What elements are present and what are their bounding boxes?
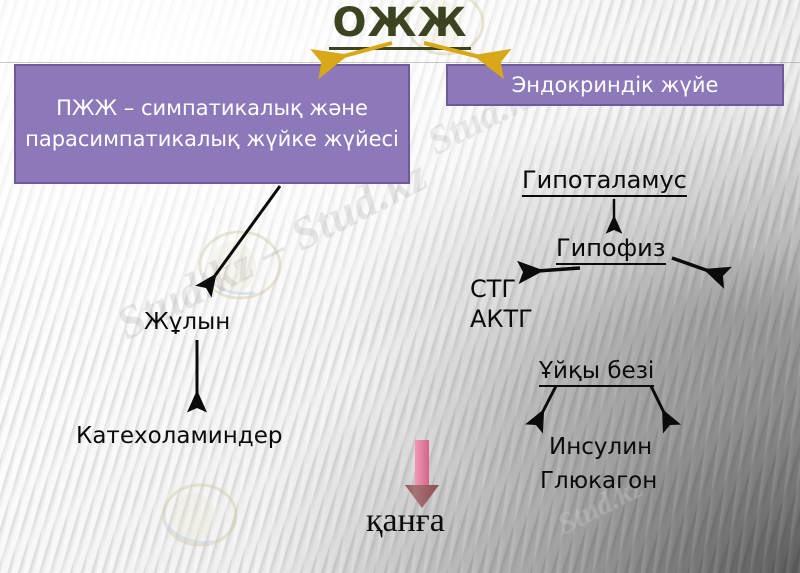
label-insulin: Инсулин <box>549 434 652 460</box>
slide-title: ОЖЖ <box>0 0 800 46</box>
label-spinal-cord: Жұлын <box>144 309 230 335</box>
label-into-blood: қанға <box>366 502 445 540</box>
box-endocrine-system[interactable]: Эндокриндік жүйе <box>446 64 784 106</box>
label-hypothalamus: Гипоталамус <box>522 166 687 197</box>
label-hypophysis: Гипофиз <box>556 234 666 265</box>
box-left-label: ПЖЖ – симпатикалық және парасимпатикалық… <box>22 93 402 155</box>
box-right-label: Эндокриндік жүйе <box>512 73 719 97</box>
label-glucagon: Глюкагон <box>540 468 657 494</box>
slide-title-text: ОЖЖ <box>329 0 472 50</box>
label-catecholamines: Катехоламиндер <box>76 423 282 449</box>
slide-canvas: Stud.kz – Stud.kz Stud.kz Stud.kz ОЖЖ ПЖ… <box>0 0 800 573</box>
background-divider-line <box>0 62 800 63</box>
label-pancreas: Ұйқы безі <box>539 358 654 387</box>
label-hormone-stg: СТГ <box>470 275 516 303</box>
label-hormone-aktg: АКТГ <box>470 305 533 333</box>
box-autonomic-nervous-system[interactable]: ПЖЖ – симпатикалық және парасимпатикалық… <box>14 64 410 184</box>
